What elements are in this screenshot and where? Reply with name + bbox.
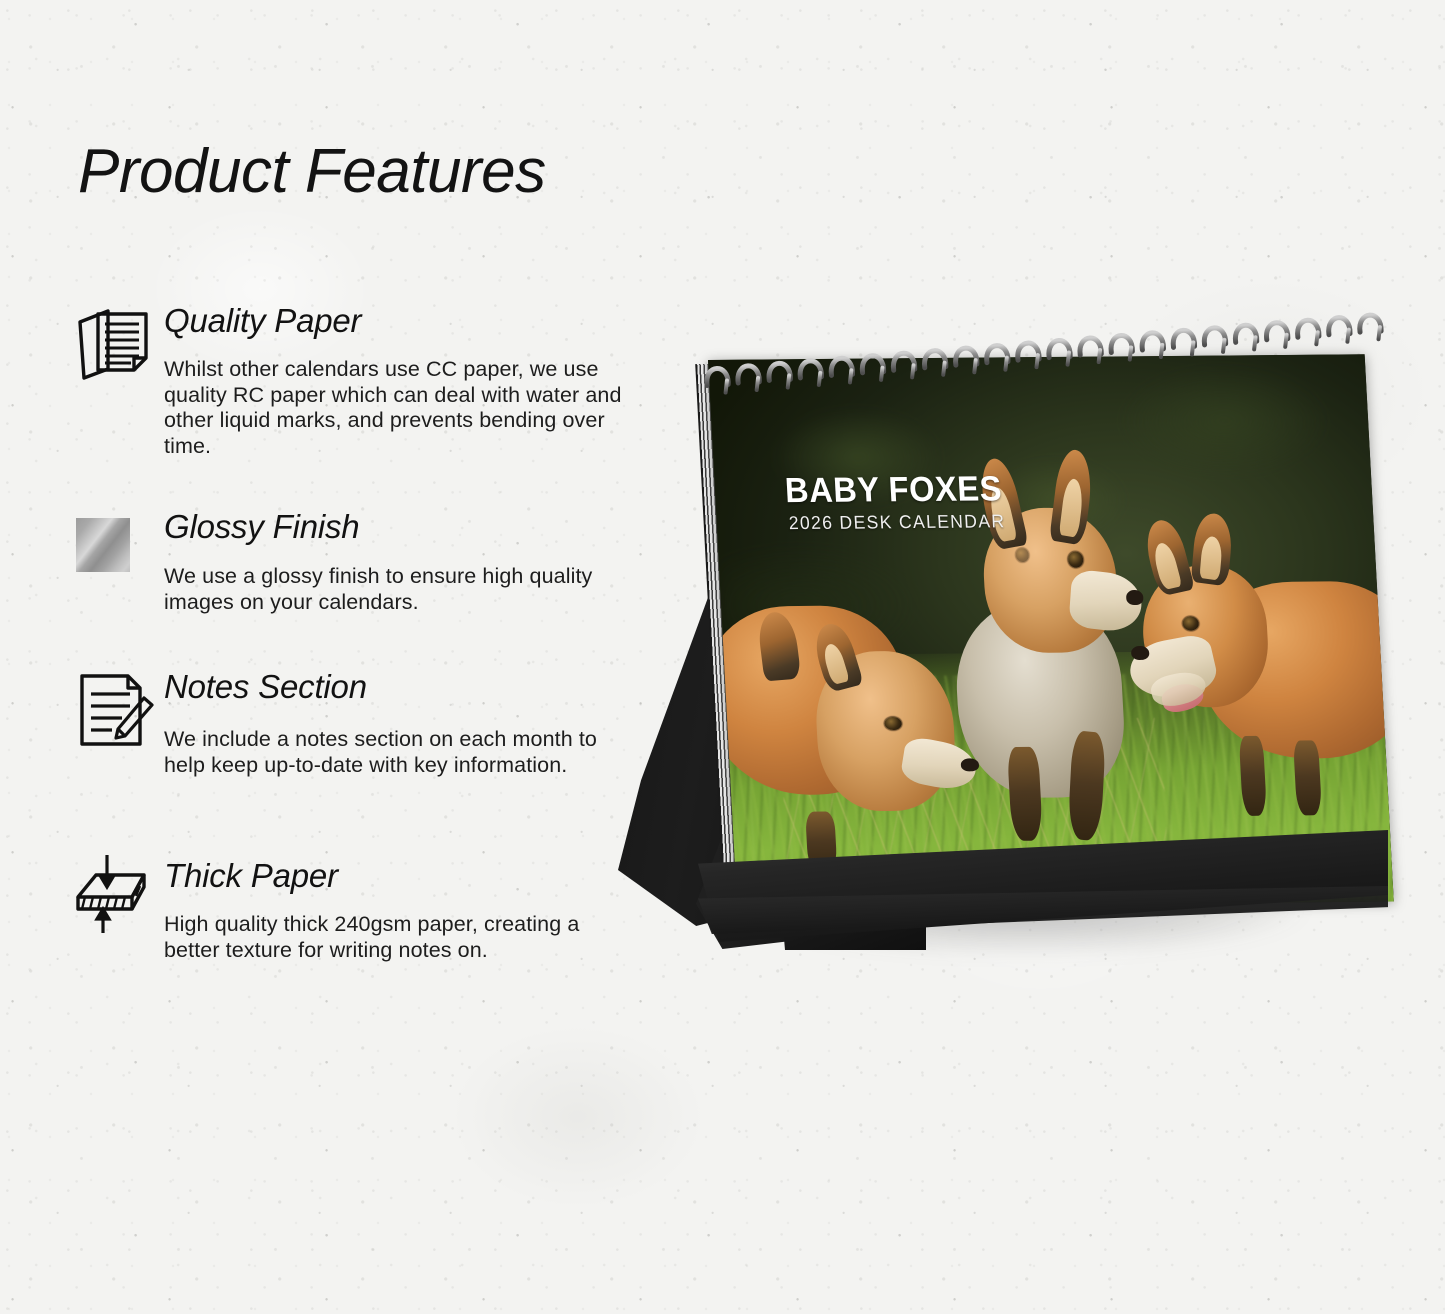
features-column: Product Features <box>0 0 640 1314</box>
feature-heading: Notes Section <box>164 668 367 706</box>
fox-cub-left <box>720 582 998 869</box>
cover-title: BABY FOXES <box>784 469 1003 511</box>
desk-calendar-product-image: BABY FOXES 2026 DESK CALENDAR <box>600 330 1430 1010</box>
glossy-swatch-icon <box>72 514 164 598</box>
product-features-page: Product Features <box>0 0 1445 1314</box>
feature-heading: Thick Paper <box>164 857 338 895</box>
feature-body: We use a glossy finish to ensure high qu… <box>164 564 626 615</box>
feature-heading: Glossy Finish <box>164 508 359 546</box>
stacked-paper-icon <box>72 300 164 384</box>
cover-subtitle: 2026 DESK CALENDAR <box>788 510 1006 534</box>
page-title: Product Features <box>78 136 546 207</box>
feature-body: Whilst other calendars use CC paper, we … <box>164 357 626 459</box>
thick-slab-icon <box>72 855 164 939</box>
feature-body: High quality thick 240gsm paper, creatin… <box>164 912 626 963</box>
note-pencil-icon <box>72 668 164 752</box>
feature-body: We include a notes section on each month… <box>164 727 626 778</box>
feature-heading: Quality Paper <box>164 302 361 340</box>
cover-photograph: BABY FOXES 2026 DESK CALENDAR <box>708 354 1394 907</box>
